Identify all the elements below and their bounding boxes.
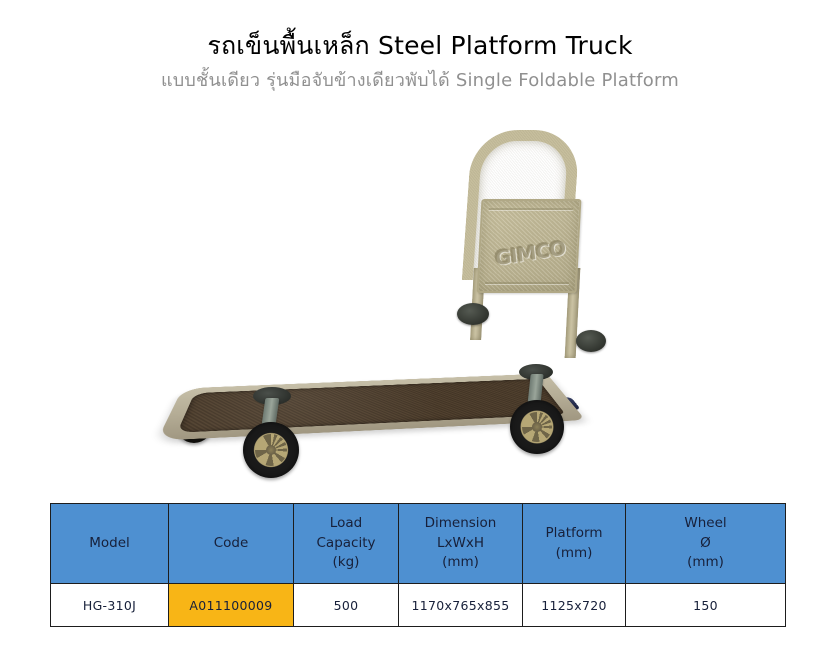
- column-header-model: Model: [51, 504, 169, 584]
- column-header-wheel: Wheel Ø (mm): [626, 504, 786, 584]
- cell-code: A011100009: [169, 584, 294, 627]
- header-line-1: Dimension: [403, 514, 518, 534]
- wheel-front-right: [510, 400, 564, 454]
- header-line-1: Load: [298, 514, 394, 534]
- wheel-front-left: [243, 422, 299, 478]
- column-header-platform: Platform (mm): [523, 504, 626, 584]
- header-line-2: LxWxH: [403, 534, 518, 554]
- platform-truck-illustration: GIMCO: [155, 122, 675, 477]
- brand-emboss: GIMCO: [494, 236, 567, 271]
- product-spec-page: { "header": { "title": "รถเข็นพื้นเหล็ก …: [0, 0, 840, 650]
- plate-top-ridge: [489, 208, 573, 210]
- page-title: รถเข็นพื้นเหล็ก Steel Platform Truck: [0, 32, 840, 61]
- cell-platform: 1125x720: [523, 584, 626, 627]
- cell-load-capacity: 500: [294, 584, 399, 627]
- header-line-1: Code: [173, 534, 289, 554]
- table-header: Model Code Load Capacity (kg) Dimension …: [51, 504, 786, 584]
- plate-bottom-ridge: [485, 282, 569, 284]
- header-line-2: (mm): [527, 544, 621, 564]
- column-header-dimension: Dimension LxWxH (mm): [399, 504, 523, 584]
- page-subtitle: แบบชั้นเดียว รุ่นมือจับข้างเดียวพับได้ S…: [0, 70, 840, 92]
- wheel-hub-icon: [255, 434, 286, 465]
- table-body: HG-310J A011100009 500 1170x765x855 1125…: [51, 584, 786, 627]
- table-row: HG-310J A011100009 500 1170x765x855 1125…: [51, 584, 786, 627]
- cell-dimension: 1170x765x855: [399, 584, 523, 627]
- header-line-3: (kg): [298, 553, 394, 573]
- column-header-code: Code: [169, 504, 294, 584]
- page-header: รถเข็นพื้นเหล็ก Steel Platform Truck แบบ…: [0, 0, 840, 91]
- header-line-1: Platform: [527, 524, 621, 544]
- header-line-2: Capacity: [298, 534, 394, 554]
- deck-surface: [177, 379, 566, 433]
- header-line-3: (mm): [630, 553, 781, 573]
- header-line-1: Wheel: [630, 514, 781, 534]
- specification-table: Model Code Load Capacity (kg) Dimension …: [50, 503, 786, 627]
- header-line-3: (mm): [403, 553, 518, 573]
- column-header-load-capacity: Load Capacity (kg): [294, 504, 399, 584]
- handle-backplate: GIMCO: [477, 199, 582, 293]
- table-header-row: Model Code Load Capacity (kg) Dimension …: [51, 504, 786, 584]
- diameter-symbol-icon: Ø: [630, 534, 781, 554]
- product-image-area: GIMCO HG-310J: [0, 122, 840, 482]
- header-line-1: Model: [55, 534, 164, 554]
- cell-wheel: 150: [626, 584, 786, 627]
- wheel-hub-icon: [522, 412, 552, 442]
- cell-model: HG-310J: [51, 584, 169, 627]
